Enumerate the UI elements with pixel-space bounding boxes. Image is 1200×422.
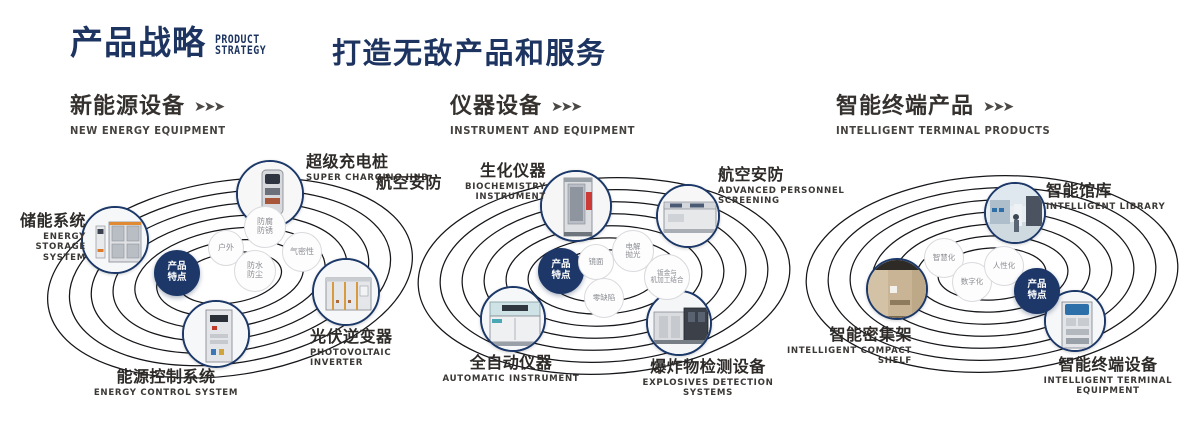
feature-bubble-waterproof: 防水防尘 — [234, 250, 276, 292]
section-heading-intelligent-terminal: 智能终端产品 ➤➤➤ INTELLIGENT TERMINAL PRODUCTS — [836, 96, 1062, 137]
feature-label: 钣金与机加工结合 — [651, 270, 684, 285]
feature-label: 气密性 — [290, 248, 314, 257]
feature-bubble-mirror-finish: 镜面 — [578, 244, 614, 280]
feature-label: 防腐防锈 — [257, 218, 273, 236]
core-line2: 特点 — [1027, 291, 1046, 302]
node-photovoltaic-inverter[interactable] — [312, 258, 380, 326]
node-biochemistry-instrument[interactable] — [540, 170, 612, 242]
poster-header: 产品战略 PRODUCT STRATEGY — [70, 26, 274, 59]
label-intelligent-compact-shelf: 智能密集架 INTELLIGENT COMPACT SHELF — [754, 326, 912, 367]
node-intelligent-compact-shelf[interactable] — [866, 258, 928, 320]
label-energy-storage-system: 储能系统 ENERGY STORAGE SYSTEM — [0, 212, 86, 264]
node-label-en: INTELLIGENT TERMINAL EQUIPMENT — [1020, 376, 1196, 397]
biochemistry-instrument-icon — [542, 172, 610, 240]
feature-bubble-airtight: 气密性 — [282, 232, 322, 272]
feature-core-product-traits: 产品 特点 — [154, 250, 200, 296]
section-heading-cn: 仪器设备 ➤➤➤ — [450, 96, 645, 118]
energy-storage-system-icon — [83, 208, 147, 272]
intelligent-compact-shelf-icon — [868, 260, 926, 318]
automatic-instrument-icon — [482, 288, 544, 350]
feature-label: 人性化 — [993, 262, 1016, 270]
feature-core-product-traits: 产品 特点 — [1014, 268, 1060, 314]
section-heading-cn: 智能终端产品 ➤➤➤ — [836, 96, 1062, 118]
section-heading-label: 智能终端产品 — [836, 96, 974, 118]
node-label-en: INTELLIGENT LIBRARY — [1046, 202, 1186, 213]
poster-title-en: PRODUCT STRATEGY — [215, 34, 266, 57]
core-line2: 特点 — [551, 271, 570, 282]
feature-label: 镜面 — [589, 258, 604, 266]
poster-title-en-line2: STRATEGY — [215, 45, 266, 57]
node-intelligent-library[interactable] — [984, 182, 1046, 244]
node-explosives-detection[interactable] — [646, 290, 712, 356]
section-heading-cn: 新能源设备 ➤➤➤ — [70, 96, 234, 118]
poster-title-cn: 产品战略 — [70, 26, 206, 59]
node-personnel-screening[interactable] — [656, 184, 720, 248]
node-label-en: INTELLIGENT COMPACT SHELF — [754, 346, 912, 367]
photovoltaic-inverter-icon — [314, 260, 378, 324]
personnel-screening-icon — [658, 186, 718, 246]
explosives-detection-icon — [648, 292, 710, 354]
node-label-en: EXPLOSIVES DETECTION SYSTEMS — [618, 378, 798, 399]
feature-label: 电解抛光 — [626, 243, 641, 260]
label-biochemistry-instrument: 生化仪器 BIOCHEMISTRY INSTRUMENT — [438, 162, 546, 203]
feature-core-product-traits: 产品 特点 — [538, 248, 584, 294]
feature-label: 户外 — [218, 244, 234, 253]
node-label-en: ENERGY CONTROL SYSTEM — [86, 388, 246, 399]
feature-label: 零缺陷 — [593, 294, 616, 302]
node-automatic-instrument[interactable] — [480, 286, 546, 352]
node-label-cn: 智能终端设备 — [1020, 356, 1196, 374]
energy-control-system-icon — [184, 302, 248, 366]
label-intelligent-terminal: 智能终端设备 INTELLIGENT TERMINAL EQUIPMENT — [1020, 356, 1196, 397]
feature-label: 智慧化 — [933, 254, 956, 262]
chevron-right-triple-icon: ➤➤➤ — [194, 100, 223, 114]
section-heading-instrument: 仪器设备 ➤➤➤ INSTRUMENT AND EQUIPMENT — [450, 96, 645, 137]
section-heading-new-energy: 新能源设备 ➤➤➤ NEW ENERGY EQUIPMENT — [70, 96, 234, 137]
label-energy-control-system: 能源控制系统 ENERGY CONTROL SYSTEM — [86, 368, 246, 398]
node-label-cn: 智能密集架 — [754, 326, 912, 344]
section-heading-en: INSTRUMENT AND EQUIPMENT — [450, 125, 635, 137]
node-label-cn: 全自动仪器 — [416, 354, 606, 372]
section-heading-label: 新能源设备 — [70, 96, 185, 118]
feature-label: 数字化 — [961, 278, 984, 286]
diagram-intelligent-terminal: 智能馆库 INTELLIGENT LIBRARY 智能密集架 INTEL — [796, 150, 1196, 410]
label-intelligent-library: 智能馆库 INTELLIGENT LIBRARY — [1046, 182, 1186, 212]
node-energy-control-system[interactable] — [182, 300, 250, 368]
section-heading-en: INTELLIGENT TERMINAL PRODUCTS — [836, 125, 1050, 137]
chevron-right-triple-icon: ➤➤➤ — [551, 100, 580, 114]
label-automatic-instrument: 全自动仪器 AUTOMATIC INSTRUMENT — [416, 354, 606, 384]
node-label-en: BIOCHEMISTRY INSTRUMENT — [438, 182, 546, 203]
core-line2: 特点 — [167, 273, 186, 284]
diagram-instrument: 生化仪器 BIOCHEMISTRY INSTRUMENT 航空安防 航空安 — [406, 150, 806, 410]
feature-label: 防水防尘 — [247, 262, 263, 280]
poster-canvas: 产品战略 PRODUCT STRATEGY 打造无敌产品和服务 新能源设备 ➤➤… — [0, 0, 1200, 422]
node-label-cn: 航空安防 — [356, 174, 442, 192]
node-label-cn: 智能馆库 — [1046, 182, 1186, 200]
node-label-en: ENERGY STORAGE SYSTEM — [0, 232, 86, 264]
node-label-cn: 储能系统 — [0, 212, 86, 230]
section-heading-label: 仪器设备 — [450, 96, 542, 118]
chevron-right-triple-icon: ➤➤➤ — [983, 100, 1012, 114]
node-label-cn: 生化仪器 — [438, 162, 546, 180]
label-aviation-security-extra: 航空安防 — [356, 174, 442, 192]
feature-bubble-sheetmetal-machining: 钣金与机加工结合 — [644, 254, 690, 300]
intelligent-library-icon — [986, 184, 1044, 242]
node-label-en: AUTOMATIC INSTRUMENT — [416, 374, 606, 385]
poster-subtitle: 打造无敌产品和服务 — [332, 30, 607, 72]
feature-bubble-anticorrosion: 防腐防锈 — [244, 206, 286, 248]
section-heading-en: NEW ENERGY EQUIPMENT — [70, 125, 226, 137]
feature-bubble-zero-defect: 零缺陷 — [584, 278, 624, 318]
node-energy-storage-system[interactable] — [81, 206, 149, 274]
node-label-cn: 能源控制系统 — [86, 368, 246, 386]
